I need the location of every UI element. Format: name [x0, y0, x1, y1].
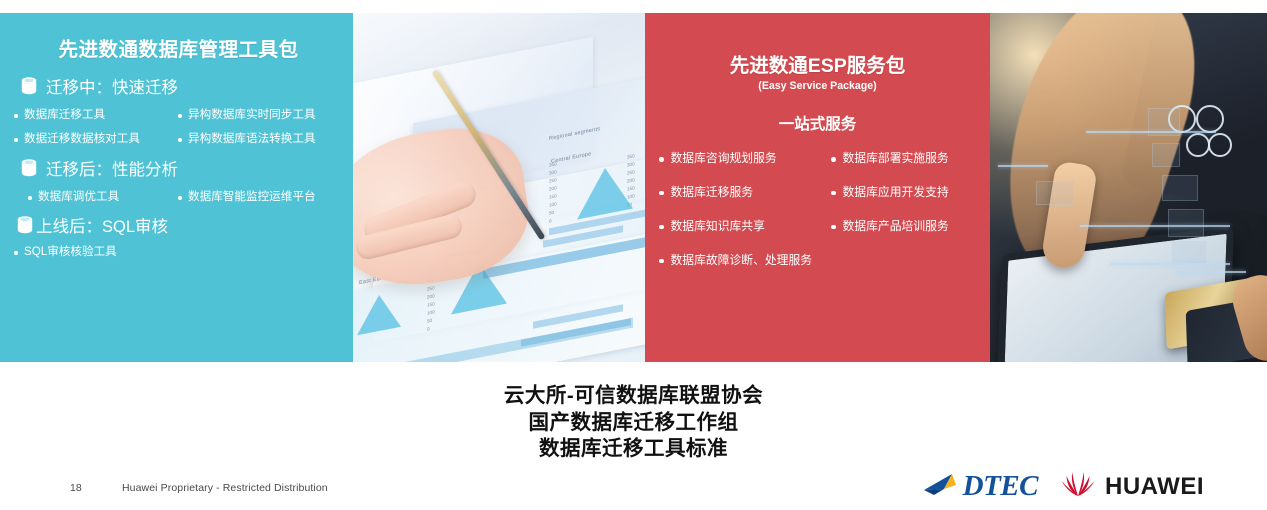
list-item: 数据库调优工具 — [14, 191, 178, 204]
caption-line-1: 云大所-可信数据库联盟协会 — [0, 383, 1267, 410]
list-item-label: 数据库智能监控运维平台 — [188, 191, 316, 204]
list-item: 数据库智能监控运维平台 — [178, 191, 343, 204]
holo-line — [1086, 131, 1216, 133]
list-item-label: 数据库产品培训服务 — [843, 220, 949, 233]
holo-chart-panel — [1168, 209, 1204, 237]
list-item: 数据库故障诊断、处理服务 — [659, 254, 976, 267]
left-panel-bullets-group-3: SQL审核核验工具 — [14, 246, 343, 259]
holo-chart-panel — [1172, 241, 1206, 263]
list-item: 数据库迁移工具 — [14, 109, 178, 122]
huawei-logo: HUAWEI — [1060, 470, 1204, 503]
bullet-dot-icon — [14, 138, 18, 142]
holo-chart-panel — [1152, 143, 1180, 167]
holo-chart-panel — [1036, 181, 1074, 205]
list-item: 数据库产品培训服务 — [831, 220, 976, 233]
bullet-dot-icon — [28, 196, 32, 200]
list-item-label: 异构数据库实时同步工具 — [188, 109, 316, 122]
footer-logos: DTEC HUAWEI — [922, 470, 1204, 503]
bullet-dot-icon — [831, 157, 836, 162]
left-panel-bullets-group-1: 数据库迁移工具 异构数据库实时同步工具 数据迁移数据核对工具 异构数据库语法转换… — [14, 109, 343, 146]
list-item-label: 数据库部署实施服务 — [843, 152, 949, 165]
bullet-dot-icon — [14, 114, 18, 118]
bullet-dot-icon — [831, 191, 836, 196]
holo-chart-panel — [1162, 175, 1198, 201]
right-panel-bullets: 数据库咨询规划服务 数据库部署实施服务 数据库迁移服务 数据库应用开发支持 数据… — [659, 152, 976, 267]
bullet-dot-icon — [659, 259, 664, 264]
huawei-flower-icon — [1060, 470, 1096, 503]
list-item: 数据库部署实施服务 — [831, 152, 976, 165]
section-heading-online-after: 上线后：SQL审核 — [16, 213, 343, 237]
section-heading-migration-during: 迁移中：快速迁移 — [20, 74, 343, 98]
bullet-dot-icon — [659, 157, 664, 162]
list-item: 数据库知识库共享 — [659, 220, 831, 233]
list-item-label: SQL审核核验工具 — [24, 246, 117, 259]
left-panel-title: 先进数通数据库管理工具包 — [14, 33, 343, 62]
section-heading-migration-after: 迁移后：性能分析 — [20, 156, 343, 180]
database-icon — [16, 215, 34, 235]
holo-line — [998, 165, 1048, 167]
database-icon — [20, 158, 38, 178]
list-item-label: 数据库应用开发支持 — [843, 186, 949, 199]
list-item: SQL审核核验工具 — [14, 246, 178, 259]
section-heading-label: 迁移中：快速迁移 — [46, 74, 178, 98]
bullet-dot-icon — [178, 114, 182, 118]
list-item-label: 异构数据库语法转换工具 — [188, 133, 316, 146]
list-item: 数据迁移数据核对工具 — [14, 133, 178, 146]
dtec-wordmark: DTEC — [963, 472, 1038, 501]
holo-line — [1080, 225, 1230, 227]
bullet-dot-icon — [659, 191, 664, 196]
list-item: 数据库迁移服务 — [659, 186, 831, 199]
list-item: 异构数据库语法转换工具 — [178, 133, 343, 146]
list-item-label: 数据库知识库共享 — [671, 220, 765, 233]
right-red-panel: 先进数通ESP服务包 (Easy Service Package) 一站式服务 … — [645, 13, 990, 362]
page-number: 18 — [70, 482, 82, 494]
list-item: 异构数据库实时同步工具 — [178, 109, 343, 122]
list-item-label: 数据库迁移服务 — [671, 186, 754, 199]
holo-ring-icon — [1208, 133, 1232, 157]
list-item-label: 数据库调优工具 — [38, 191, 119, 204]
confidentiality-notice: Huawei Proprietary - Restricted Distribu… — [122, 482, 328, 494]
left-panel-bullets-group-2: 数据库调优工具 数据库智能监控运维平台 — [14, 191, 343, 204]
holo-line — [1110, 263, 1230, 265]
bullet-dot-icon — [178, 196, 182, 200]
list-item-label: 数据库故障诊断、处理服务 — [671, 254, 813, 267]
bullet-dot-icon — [178, 138, 182, 142]
holo-ring-icon — [1196, 105, 1224, 133]
banner-strip: 先进数通数据库管理工具包 迁移中：快速迁移 数据库迁移工具 异构数据库实时同步工… — [0, 13, 1267, 362]
list-item-label: 数据库迁移工具 — [24, 109, 105, 122]
right-panel-subtitle: (Easy Service Package) — [659, 80, 976, 92]
bullet-dot-icon — [659, 225, 664, 230]
section-heading-label: 迁移后：性能分析 — [46, 156, 178, 180]
caption-line-3: 数据库迁移工具标准 — [0, 436, 1267, 463]
holo-ring-icon — [1186, 133, 1210, 157]
photo-axis-ticks: 350300250200150100500 — [549, 160, 557, 225]
right-panel-title: 先进数通ESP服务包 — [659, 49, 976, 78]
right-photo — [990, 13, 1267, 362]
bullet-dot-icon — [831, 225, 836, 230]
dtec-arrow-icon — [922, 470, 962, 503]
bullet-dot-icon — [14, 251, 18, 255]
left-teal-panel: 先进数通数据库管理工具包 迁移中：快速迁移 数据库迁移工具 异构数据库实时同步工… — [0, 13, 353, 362]
huawei-wordmark: HUAWEI — [1105, 475, 1204, 499]
database-icon — [20, 76, 38, 96]
right-panel-tagline: 一站式服务 — [659, 112, 976, 134]
dtec-logo: DTEC — [922, 470, 1038, 503]
list-item: 数据库应用开发支持 — [831, 186, 976, 199]
caption-line-2: 国产数据库迁移工作组 — [0, 410, 1267, 437]
list-item-label: 数据迁移数据核对工具 — [24, 133, 140, 146]
list-item: 数据库咨询规划服务 — [659, 152, 831, 165]
middle-photo: Regional segments Central Europe West Eu… — [353, 13, 645, 362]
list-item-label: 数据库咨询规划服务 — [671, 152, 777, 165]
section-heading-label: 上线后：SQL审核 — [36, 213, 168, 237]
caption-block: 云大所-可信数据库联盟协会 国产数据库迁移工作组 数据库迁移工具标准 — [0, 383, 1267, 463]
holo-line — [1176, 271, 1246, 273]
